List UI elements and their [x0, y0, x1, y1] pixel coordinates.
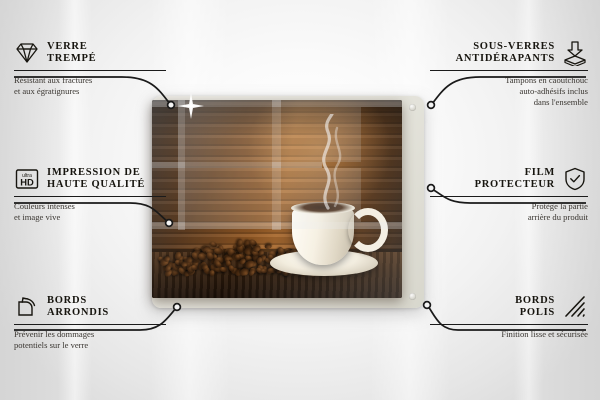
feature-description: Tampons en caoutchoucauto-adhésifs inclu…: [430, 75, 588, 109]
feature-film-protecteur: FILMPROTECTEUR Protège la partiearrière …: [430, 166, 588, 223]
rounded-corner-icon: [14, 294, 40, 320]
feature-sous-verres-antiderapants: SOUS-VERRESANTIDÉRAPANTS Tampons en caou…: [430, 40, 588, 109]
product-image: [152, 96, 424, 308]
svg-text:HD: HD: [20, 177, 34, 188]
feature-bords-arrondis: BORDSARRONDIS Prévenir les dommagespoten…: [14, 294, 166, 351]
tempered-glass-print: [152, 100, 402, 298]
feature-title: SOUS-VERRESANTIDÉRAPANTS: [456, 41, 555, 66]
divider: [14, 196, 166, 197]
glass-gloss-overlay: [152, 100, 402, 298]
rubber-pad: [409, 293, 416, 300]
feature-header: VERRETREMPÉ: [14, 40, 166, 66]
feature-description: Protège la partiearrière du produit: [430, 201, 588, 223]
feature-bords-polis: BORDSPOLIS Finition lisse et sécurisée: [430, 294, 588, 340]
feature-impression-haute-qualite: ultra HD IMPRESSION DEHAUTE QUALITÉ Coul…: [14, 166, 166, 223]
feature-title: VERRETREMPÉ: [47, 41, 96, 66]
feature-description: Résistant aux fractureset aux égratignur…: [14, 75, 166, 97]
feature-title: FILMPROTECTEUR: [475, 167, 555, 192]
hatched-triangle-icon: [562, 294, 588, 320]
diamond-icon: [14, 40, 40, 66]
feature-title: IMPRESSION DEHAUTE QUALITÉ: [47, 167, 145, 192]
ultra-hd-icon: ultra HD: [14, 166, 40, 192]
feature-header: BORDSARRONDIS: [14, 294, 166, 320]
feature-verre-trempe: VERRETREMPÉ Résistant aux fractureset au…: [14, 40, 166, 97]
feature-description: Prévenir les dommagespotentiels sur le v…: [14, 329, 166, 351]
feature-title: BORDSPOLIS: [515, 295, 555, 320]
feature-description: Couleurs intenseset image vive: [14, 201, 166, 223]
feature-header: FILMPROTECTEUR: [430, 166, 588, 192]
divider: [14, 70, 166, 71]
shield-check-icon: [562, 166, 588, 192]
divider: [430, 196, 588, 197]
feature-description: Finition lisse et sécurisée: [430, 329, 588, 340]
feature-header: SOUS-VERRESANTIDÉRAPANTS: [430, 40, 588, 66]
divider: [14, 324, 166, 325]
feature-header: BORDSPOLIS: [430, 294, 588, 320]
feature-title: BORDSARRONDIS: [47, 295, 109, 320]
pad-arrow-icon: [562, 40, 588, 66]
feature-header: ultra HD IMPRESSION DEHAUTE QUALITÉ: [14, 166, 166, 192]
infographic-stage: VERRETREMPÉ Résistant aux fractureset au…: [0, 0, 600, 400]
rubber-pad: [409, 104, 416, 111]
divider: [430, 324, 588, 325]
divider: [430, 70, 588, 71]
